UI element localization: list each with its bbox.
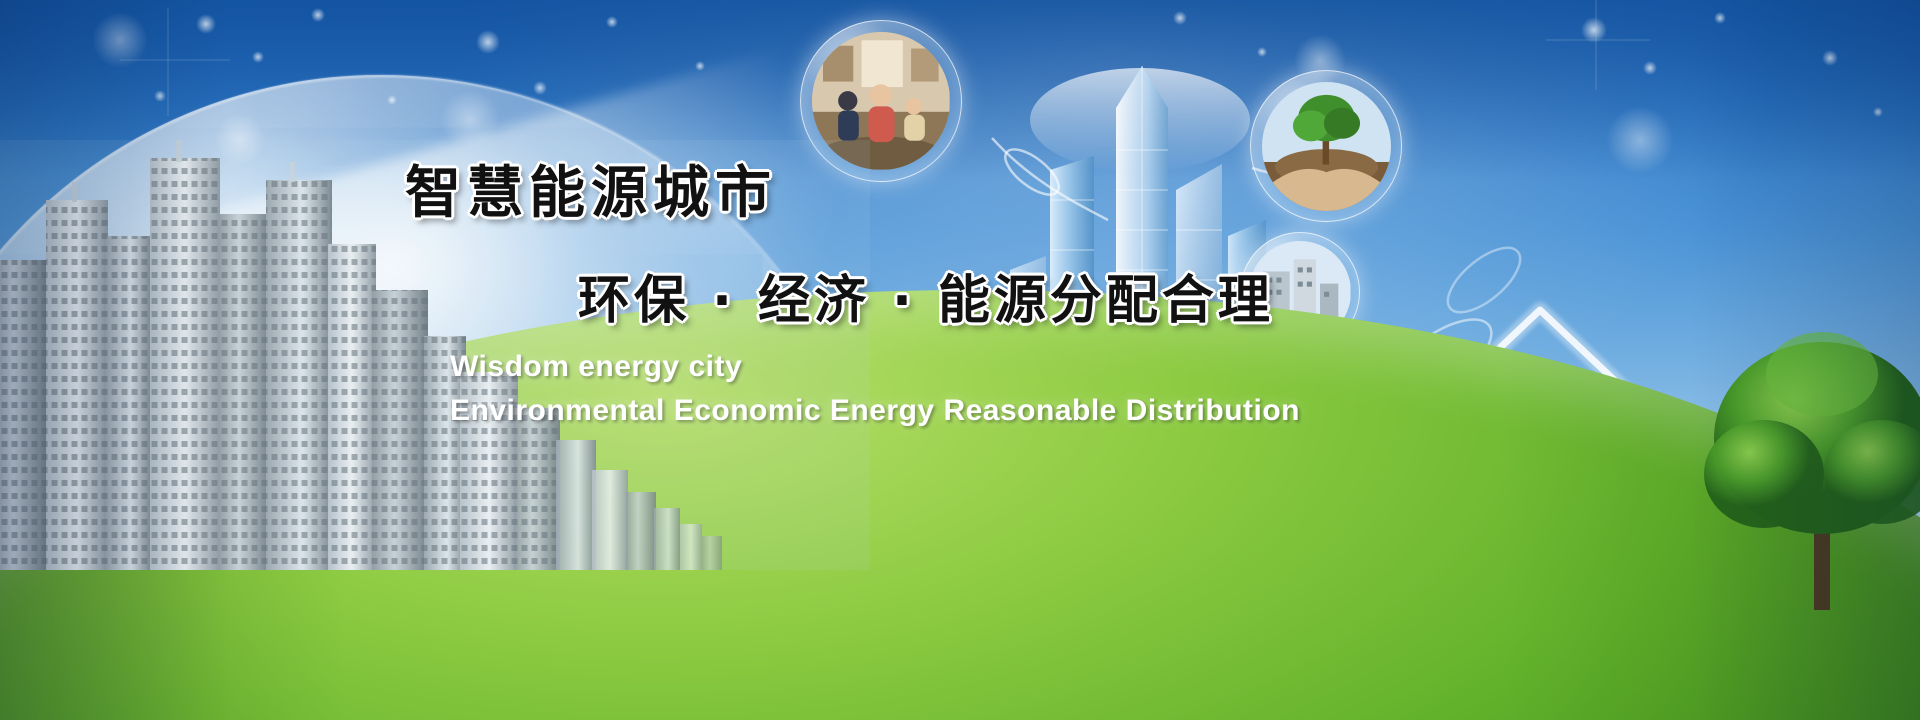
- subheadline-chinese: 环保 · 经济 · 能源分配合理: [578, 258, 1274, 333]
- headline-chinese: 智慧能源城市: [405, 148, 777, 229]
- energy-city-banner: 智慧能源城市 环保 · 经济 · 能源分配合理 Wisdom energy ci…: [0, 0, 1920, 720]
- tagline-english-secondary: Environmental Economic Energy Reasonable…: [450, 394, 1300, 428]
- tagline-english-primary: Wisdom energy city: [450, 350, 742, 384]
- text-layer: 智慧能源城市 环保 · 经济 · 能源分配合理 Wisdom energy ci…: [0, 0, 1920, 720]
